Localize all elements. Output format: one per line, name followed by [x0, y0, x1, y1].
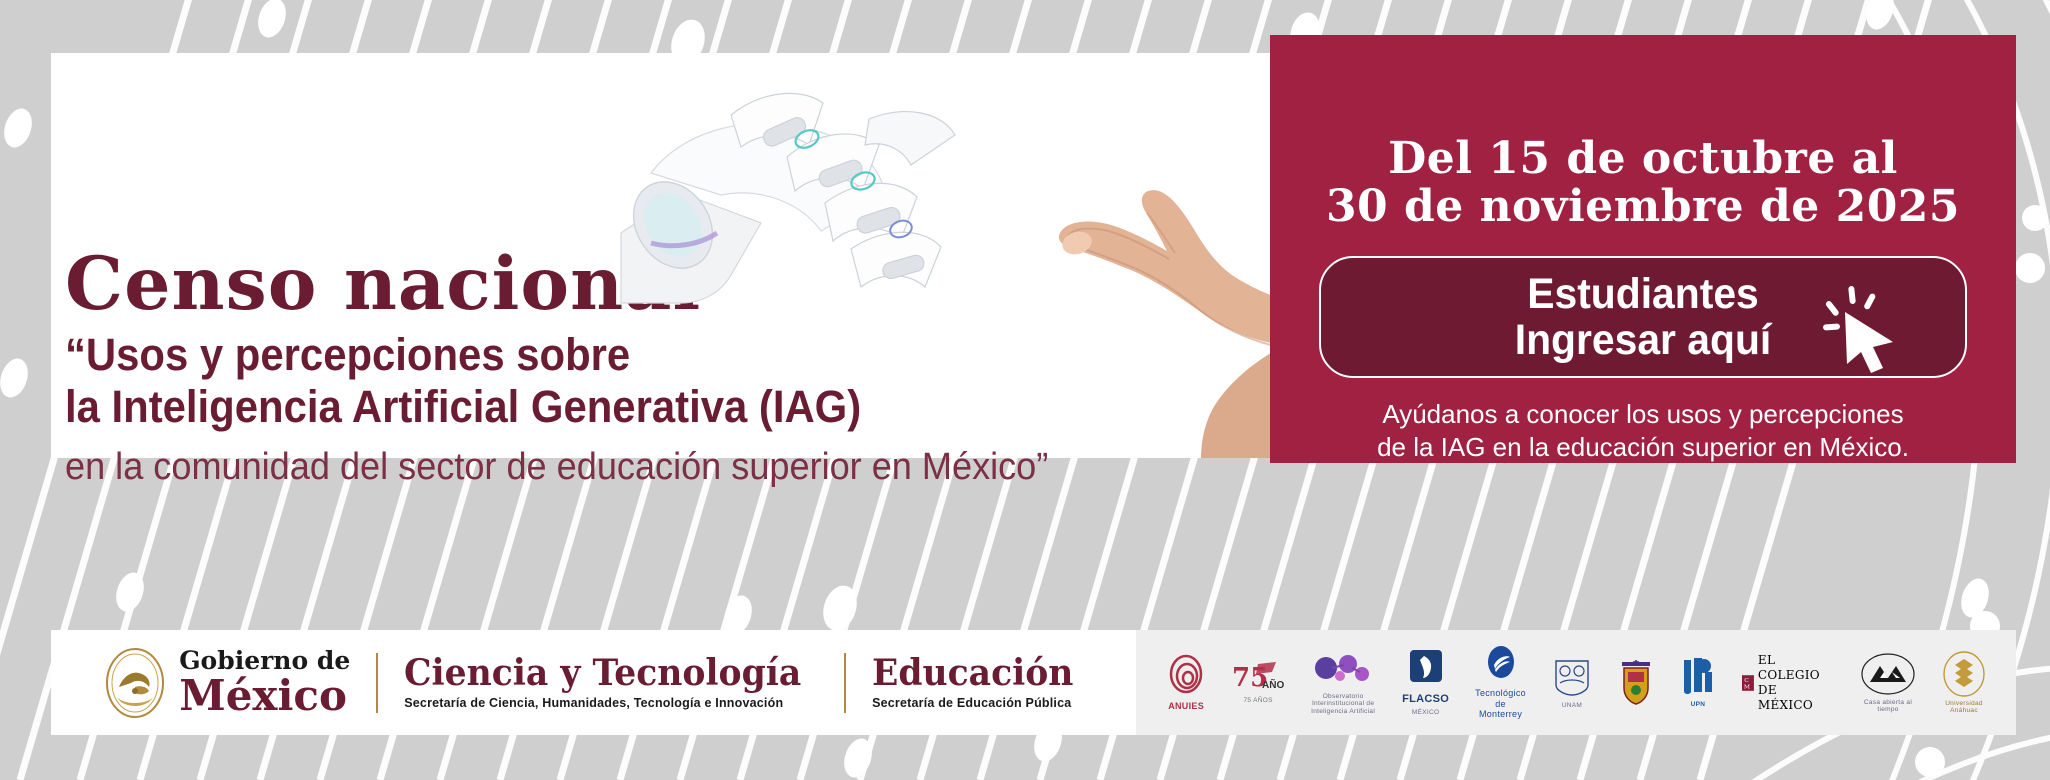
estudiantes-ingresar-button[interactable]: Estudiantes Ingresar aquí: [1319, 256, 1967, 378]
gobierno-label-top: Gobierno de: [179, 648, 350, 673]
estudiantes-ingresar-button-label: Estudiantes Ingresar aquí: [1515, 271, 1772, 364]
gobierno-label-bottom: México: [179, 675, 350, 717]
divider-1: [376, 653, 378, 713]
logo-anuies: ANUIES: [1166, 645, 1206, 721]
svg-text:C: C: [1744, 677, 1749, 684]
cta-note: Ayúdanos a conocer los usos y percepcion…: [1377, 398, 1909, 463]
tec-monterrey-label: Tecnológico de Monterrey: [1475, 688, 1526, 719]
cta-panel: Del 15 de octubre al 30 de noviembre de …: [1270, 35, 2016, 463]
page-title: Censo nacional: [65, 248, 1265, 321]
udg-icon: [1618, 660, 1654, 706]
anahuac-icon: [1942, 651, 1986, 697]
divider-2: [844, 653, 846, 713]
logo-tec-monterrey: Tecnológico de Monterrey: [1475, 645, 1526, 721]
click-cursor-icon: [1823, 284, 1907, 374]
mexican-coat-of-arms-icon: [105, 647, 165, 719]
logo-udg: [1618, 645, 1654, 721]
ciencia-label: Ciencia y Tecnología: [404, 655, 801, 691]
logo-colmex: C M EL COLEGIO DE MÉXICO: [1742, 645, 1834, 721]
subtitle-line-2: la Inteligencia Artificial Generativa (I…: [65, 381, 1181, 433]
institutional-logos: ANUIES 75 AÑOS 75 AÑOS Observatorio Inte…: [1136, 630, 2016, 735]
hero-panel: Censo nacional “Usos y percepciones sobr…: [51, 53, 1270, 458]
upn-icon: [1680, 656, 1716, 698]
anahuac-label: Universidad Anáhuac: [1942, 700, 1986, 715]
anuies-75-anos-icon: 75 AÑOS: [1232, 660, 1284, 694]
educacion-label: Educación: [872, 655, 1073, 691]
ciencia-y-tecnologia-logo: Ciencia y Tecnología Secretaría de Cienc…: [404, 655, 818, 710]
educacion-sublabel: Secretaría de Educación Pública: [872, 696, 1082, 710]
observatorio-label: Observatorio Interinstitucional de Intel…: [1310, 693, 1376, 715]
logo-flacso: FLACSO MÉXICO: [1402, 645, 1449, 721]
unam-icon: [1552, 655, 1592, 699]
anuies-75-label: 75 AÑOS: [1244, 697, 1273, 704]
logo-observatorio: Observatorio Interinstitucional de Intel…: [1310, 645, 1376, 721]
logo-anuies-75: 75 AÑOS 75 AÑOS: [1232, 645, 1284, 721]
anuies-icon: [1166, 654, 1206, 698]
ciencia-sublabel: Secretaría de Ciencia, Humanidades, Tecn…: [404, 696, 818, 710]
flacso-label: FLACSO: [1402, 693, 1449, 706]
hero-text-block: Censo nacional “Usos y percepciones sobr…: [65, 248, 1265, 490]
svg-text:M: M: [1744, 683, 1750, 690]
logo-anahuac: Universidad Anáhuac: [1942, 645, 1986, 721]
colmex-label: EL COLEGIO DE MÉXICO: [1758, 653, 1834, 713]
uam-label: Casa abierta al tiempo: [1860, 699, 1916, 714]
campaign-dates: Del 15 de octubre al 30 de noviembre de …: [1326, 135, 1960, 230]
unam-label: UNAM: [1562, 702, 1582, 709]
flacso-icon: [1406, 648, 1446, 690]
upn-label: UPN: [1691, 701, 1706, 708]
gobierno-de-mexico-logo: Gobierno de México: [105, 647, 350, 719]
tec-monterrey-icon: [1484, 645, 1518, 685]
anuies-label: ANUIES: [1168, 701, 1204, 711]
educacion-logo: Educación Secretaría de Educación Públic…: [872, 655, 1082, 710]
footer-bar: Gobierno de México Ciencia y Tecnología …: [51, 630, 2016, 735]
colmex-icon: C M: [1742, 666, 1754, 700]
subtitle-line-3: en la comunidad del sector de educación …: [65, 445, 1205, 491]
observatorio-icon: [1310, 650, 1376, 690]
subtitle-line-1: “Usos y percepciones sobre: [65, 329, 1181, 381]
logo-uam: Casa abierta al tiempo: [1860, 645, 1916, 721]
flacso-sublabel: MÉXICO: [1412, 709, 1439, 716]
logo-upn: UPN: [1680, 645, 1716, 721]
government-branding: Gobierno de México Ciencia y Tecnología …: [51, 630, 1136, 735]
logo-unam: UNAM: [1552, 645, 1592, 721]
svg-text:AÑOS: AÑOS: [1262, 678, 1284, 691]
uam-icon: [1860, 652, 1916, 696]
